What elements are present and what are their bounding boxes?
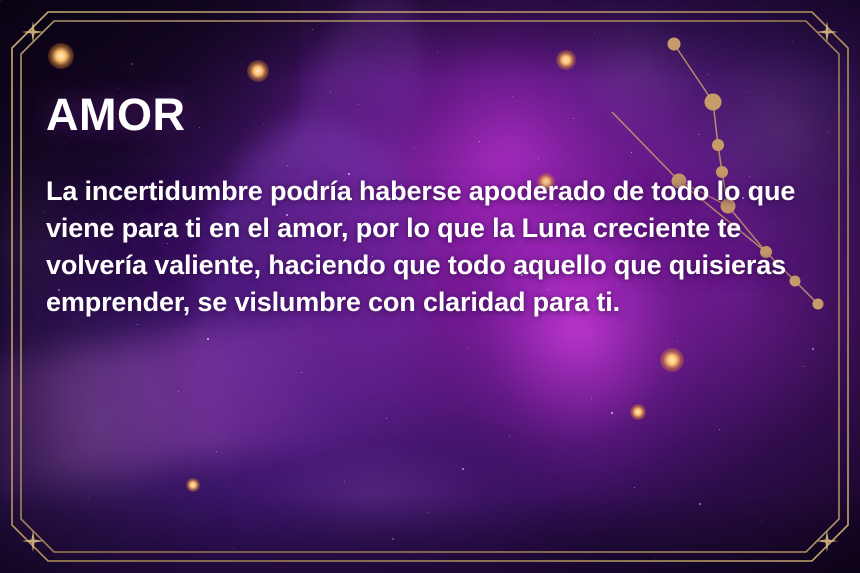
horoscope-body-text: La incertidumbre podría haberse apoderad… [46, 173, 806, 321]
page-title: AMOR [46, 92, 816, 137]
horoscope-card: AMOR La incertidumbre podría haberse apo… [0, 0, 860, 573]
card-content: AMOR La incertidumbre podría haberse apo… [46, 92, 816, 321]
